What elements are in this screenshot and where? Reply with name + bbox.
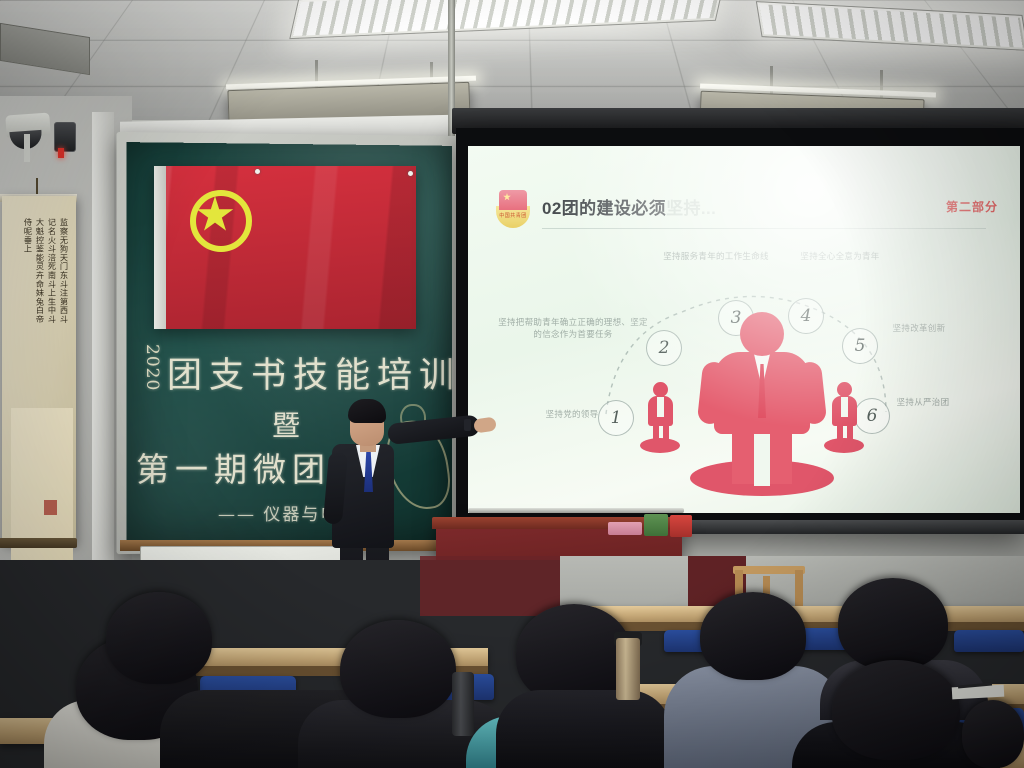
scroll-column: 大魁控鉴能灵卉命妹兔白帝	[34, 218, 45, 518]
blackboard-title-line2: 暨	[272, 404, 300, 444]
sensor-led-indicator	[58, 148, 64, 158]
flag-pin	[408, 171, 413, 176]
student-head	[832, 660, 960, 760]
scroll-bottom-rod	[0, 538, 77, 548]
student-head	[700, 592, 806, 680]
scroll-column: 侍呢垂上	[22, 218, 33, 518]
chalk-rail	[468, 508, 684, 513]
water-bottle[interactable]	[452, 672, 474, 736]
scroll-column: 记名火斗涪死南斗上生中斗	[46, 218, 57, 518]
projection-screen[interactable]: 中国共青团 02团的建设必须坚持... 第二部分 1 2 3 4 5 6 坚持党…	[468, 146, 1020, 513]
student-head	[838, 578, 948, 670]
pink-box[interactable]	[608, 522, 642, 535]
flag-pin	[255, 169, 260, 174]
student-head	[516, 604, 632, 704]
student-head	[106, 592, 212, 684]
maroon-wall-panel	[420, 556, 560, 616]
door-frame	[92, 112, 114, 592]
blackboard-year: 2020	[142, 344, 162, 391]
thermos[interactable]	[616, 638, 640, 700]
youth-league-flag	[154, 166, 416, 329]
classroom-scene: 监察无狗天门东斗注第西斗 记名火斗涪死南斗上生中斗 大魁控鉴能灵卉命妹兔白帝 侍…	[0, 0, 1024, 768]
scroll-text-columns: 监察无狗天门东斗注第西斗 记名火斗涪死南斗上生中斗 大魁控鉴能灵卉命妹兔白帝 侍…	[11, 218, 69, 518]
scroll-seal	[44, 500, 57, 515]
presenter-hair	[348, 399, 386, 423]
red-carton[interactable]	[670, 515, 692, 537]
presenter-watch	[464, 419, 471, 431]
student-shoulders	[496, 690, 672, 768]
flag-hoist	[154, 166, 166, 329]
scroll-column: 监察无狗天门东斗注第西斗	[58, 218, 69, 518]
classroom-chair[interactable]	[954, 630, 1024, 652]
blackboard-title-line1: 团支书技能培训	[167, 347, 461, 398]
green-box[interactable]	[644, 514, 668, 536]
flag-folds	[154, 166, 416, 329]
student-head	[340, 620, 456, 718]
student-head	[962, 700, 1024, 768]
projector-hotspot	[468, 146, 1020, 513]
camera-mount	[24, 134, 30, 162]
